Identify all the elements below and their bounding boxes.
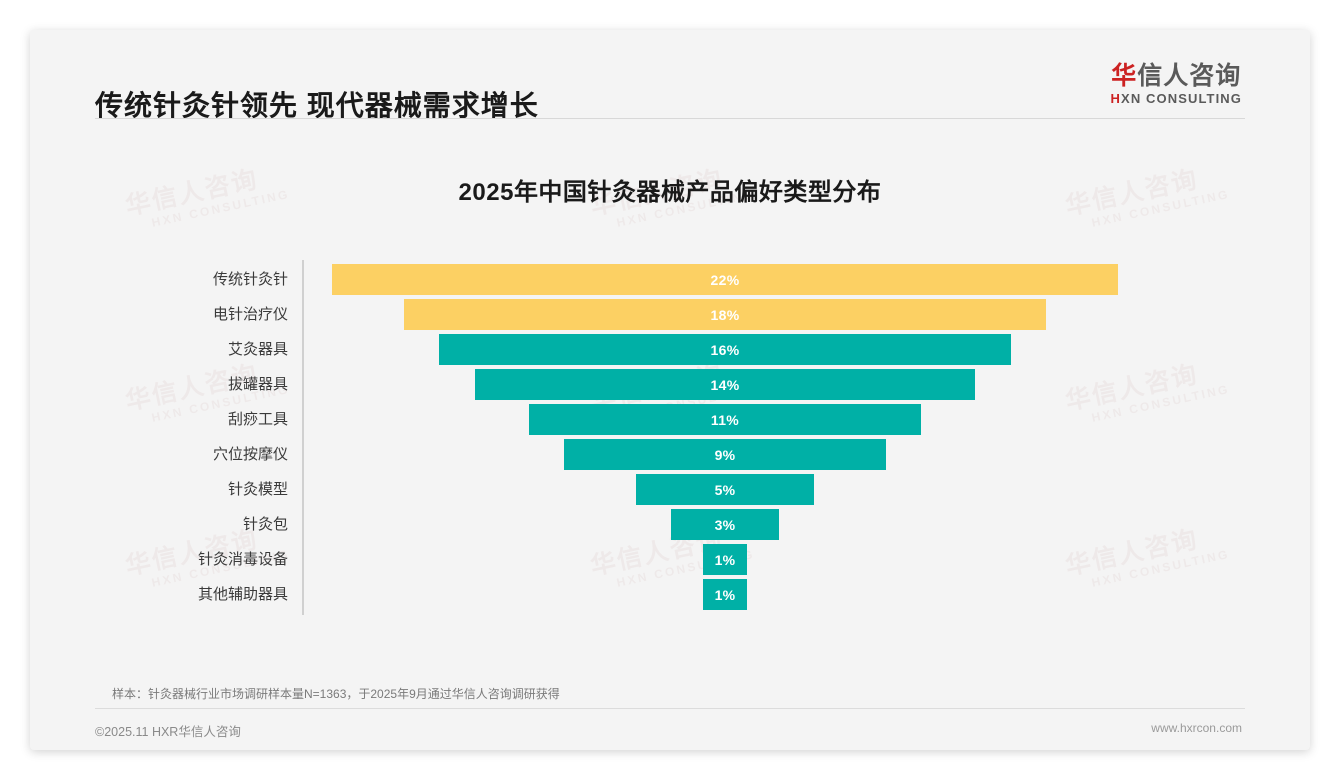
logo-chinese-text: 华信人咨询: [1111, 62, 1242, 90]
bar-value-label: 22%: [711, 272, 740, 288]
bar-value-label: 1%: [715, 587, 736, 603]
category-label: 电针治疗仪: [30, 299, 288, 330]
slide-card: 华信人咨询HXN CONSULTING华信人咨询HXN CONSULTING华信…: [30, 30, 1310, 750]
chart-bar[interactable]: 11%: [529, 404, 922, 435]
chart-row: 针灸消毒设备1%: [30, 544, 1310, 575]
chart-row: 传统针灸针22%: [30, 264, 1310, 295]
chart-row: 其他辅助器具1%: [30, 579, 1310, 610]
chart-bar[interactable]: 14%: [475, 369, 975, 400]
bar-value-label: 16%: [711, 342, 740, 358]
logo-english-text: HXN CONSULTING: [1111, 91, 1242, 106]
chart-bar[interactable]: 1%: [703, 544, 747, 575]
bar-value-label: 11%: [711, 412, 739, 428]
category-label: 艾灸器具: [30, 334, 288, 365]
category-label: 刮痧工具: [30, 404, 288, 435]
chart-title: 2025年中国针灸器械产品偏好类型分布: [30, 172, 1310, 207]
chart-bar[interactable]: 9%: [564, 439, 885, 470]
chart-bar[interactable]: 22%: [332, 264, 1117, 295]
company-logo: 华信人咨询 HXN CONSULTING: [1111, 62, 1242, 106]
footer-divider: [95, 708, 1245, 709]
slide-header: 传统针灸针领先 现代器械需求增长 华信人咨询 HXN CONSULTING: [30, 30, 1310, 120]
bar-value-label: 14%: [711, 377, 740, 393]
chart-row: 刮痧工具11%: [30, 404, 1310, 435]
bar-value-label: 5%: [715, 482, 736, 498]
bar-value-label: 1%: [715, 552, 736, 568]
category-label: 针灸包: [30, 509, 288, 540]
category-label: 传统针灸针: [30, 264, 288, 295]
chart-bar[interactable]: 1%: [703, 579, 747, 610]
funnel-bar-chart: 传统针灸针22%电针治疗仪18%艾灸器具16%拔罐器具14%刮痧工具11%穴位按…: [30, 240, 1310, 630]
chart-bar[interactable]: 5%: [636, 474, 815, 505]
bar-value-label: 9%: [715, 447, 736, 463]
chart-row: 拔罐器具14%: [30, 369, 1310, 400]
website-link[interactable]: www.hxrcon.com: [1151, 721, 1242, 735]
sample-footnote: 样本：针灸器械行业市场调研样本量N=1363，于2025年9月通过华信人咨询调研…: [112, 685, 560, 702]
bar-value-label: 3%: [715, 517, 736, 533]
category-label: 针灸模型: [30, 474, 288, 505]
category-label: 其他辅助器具: [30, 579, 288, 610]
chart-row: 针灸模型5%: [30, 474, 1310, 505]
chart-row: 针灸包3%: [30, 509, 1310, 540]
logo-cn-highlight: 华: [1111, 62, 1137, 90]
category-label: 针灸消毒设备: [30, 544, 288, 575]
category-label: 拔罐器具: [30, 369, 288, 400]
slide-footer: ©2025.11 HXR华信人咨询 www.hxrcon.com: [30, 712, 1310, 750]
chart-bar[interactable]: 18%: [404, 299, 1047, 330]
chart-bar[interactable]: 3%: [671, 509, 778, 540]
category-label: 穴位按摩仪: [30, 439, 288, 470]
logo-cn-rest: 信人咨询: [1137, 62, 1241, 90]
chart-bar[interactable]: 16%: [439, 334, 1010, 365]
bar-value-label: 18%: [711, 307, 740, 323]
logo-en-highlight: H: [1111, 91, 1122, 106]
header-divider: [95, 118, 1245, 119]
chart-row: 艾灸器具16%: [30, 334, 1310, 365]
copyright-text: ©2025.11 HXR华信人咨询: [95, 721, 241, 740]
chart-row: 电针治疗仪18%: [30, 299, 1310, 330]
chart-row: 穴位按摩仪9%: [30, 439, 1310, 470]
logo-en-rest: XN CONSULTING: [1121, 91, 1242, 106]
